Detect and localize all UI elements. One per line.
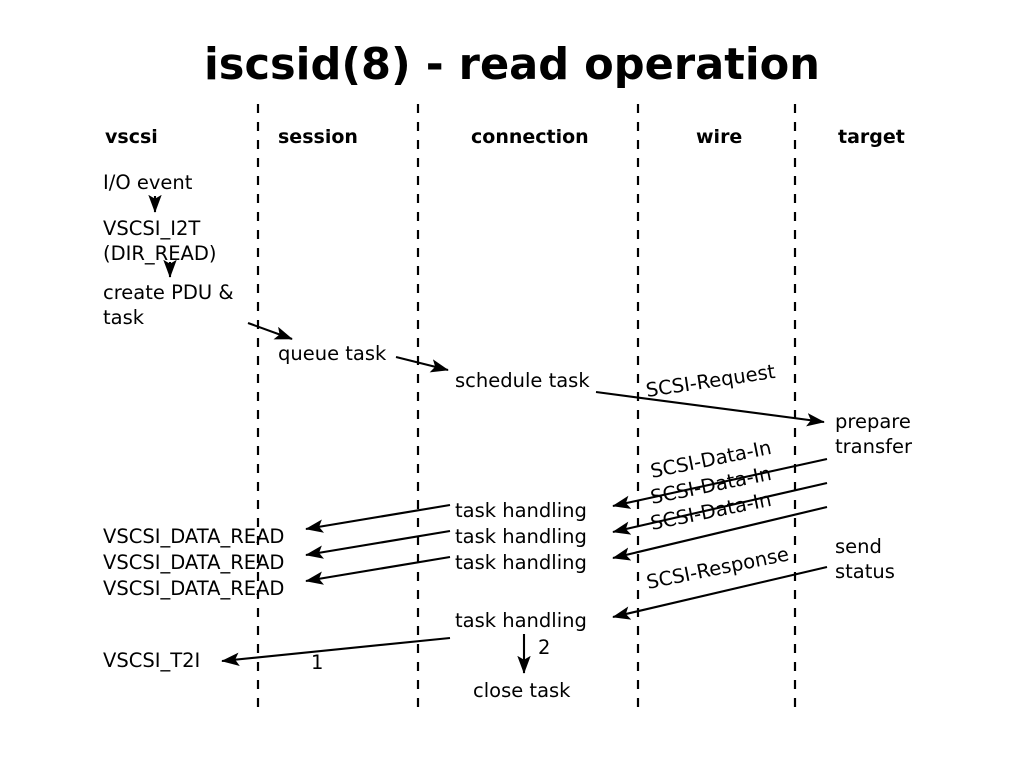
order-label-1: 1: [311, 651, 323, 674]
column-header-connection: connection: [471, 126, 589, 148]
column-header-wire: wire: [696, 126, 742, 148]
step-vscsi-i2t: VSCSI_I2T: [103, 217, 200, 240]
arrow-connection-to-vscsi-data-read-1: [306, 505, 450, 529]
sequence-diagram: iscsid(8) - read operation vscsi session…: [0, 0, 1024, 768]
step-vscsi-data-read-1: VSCSI_DATA_READ: [103, 525, 284, 548]
wire-label-scsi-request: SCSI-Request: [644, 360, 777, 402]
arrow-vscsi-to-session: [248, 323, 292, 339]
step-send: send: [835, 535, 882, 558]
arrow-connection-to-vscsi-data-read-2: [306, 531, 450, 555]
step-close-task: close task: [473, 679, 571, 702]
column-header-vscsi: vscsi: [105, 126, 158, 148]
order-label-2: 2: [538, 636, 550, 659]
column-header-session: session: [278, 126, 358, 148]
arrow-connection-to-target-request: [596, 392, 824, 422]
step-task-handling-2: task handling: [455, 525, 587, 548]
step-transfer: transfer: [835, 435, 913, 458]
arrow-session-to-connection: [396, 357, 448, 370]
step-task-handling-3: task handling: [455, 551, 587, 574]
slide-canvas: iscsid(8) - read operation vscsi session…: [0, 0, 1024, 768]
wire-label-scsi-response: SCSI-Response: [644, 542, 790, 593]
step-io-event: I/O event: [103, 171, 193, 194]
step-status: status: [835, 560, 895, 583]
step-queue-task: queue task: [278, 342, 387, 365]
step-task-handling-4: task handling: [455, 609, 587, 632]
step-create-pdu-task: task: [103, 306, 145, 329]
step-dir-read: (DIR_READ): [103, 242, 217, 265]
step-task-handling-1: task handling: [455, 499, 587, 522]
page-title: iscsid(8) - read operation: [204, 39, 820, 90]
step-vscsi-data-read-3: VSCSI_DATA_READ: [103, 577, 284, 600]
step-vscsi-t2i: VSCSI_T2I: [103, 649, 200, 672]
step-vscsi-data-read-2: VSCSI_DATA_READ: [103, 551, 284, 574]
step-create-pdu: create PDU &: [103, 281, 234, 304]
arrow-connection-to-vscsi-data-read-3: [306, 557, 450, 581]
step-schedule-task: schedule task: [455, 369, 590, 392]
column-header-target: target: [838, 126, 905, 148]
arrow-connection-to-vscsi-t2i: [222, 638, 450, 661]
step-prepare: prepare: [835, 410, 911, 433]
